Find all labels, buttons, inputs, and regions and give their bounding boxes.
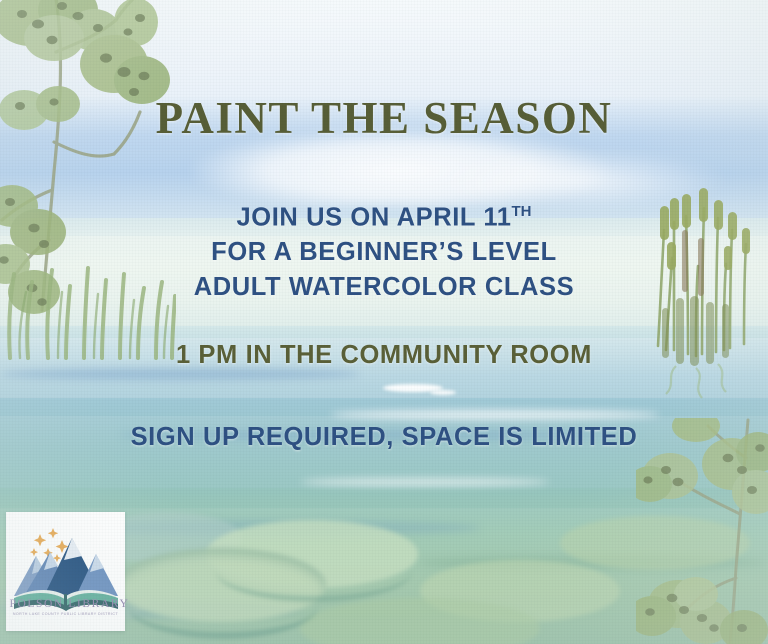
lily-pad [560, 516, 750, 570]
library-logo: POLSON LIBRARY NORTH LAKE COUNTY PUBLIC … [6, 512, 125, 631]
poster-line-signup-note: SIGN UP REQUIRED, SPACE IS LIMITED [0, 423, 768, 452]
lily-pad [300, 598, 540, 644]
water-wash-upper [0, 326, 768, 416]
water-streak [300, 478, 550, 486]
logo-subtitle-text: NORTH LAKE COUNTY PUBLIC LIBRARY DISTRIC… [10, 612, 122, 616]
lily-pad [420, 560, 620, 622]
water-streak [330, 410, 660, 419]
cloud-wash-right [430, 150, 730, 210]
logo-name-text: POLSON LIBRARY [10, 598, 122, 610]
lily-pad [206, 520, 418, 588]
water-wash-mid [0, 398, 768, 508]
poster-line-level: FOR A BEGINNER’S LEVEL [0, 238, 768, 267]
lily-pad [116, 548, 326, 622]
date-text: JOIN US ON APRIL 11 [237, 204, 512, 232]
poster-line-date: JOIN US ON APRIL 11TH [0, 203, 768, 233]
lily-pad-shadow [216, 540, 412, 602]
lily-pad-shadow [128, 572, 318, 639]
water-streak [420, 556, 768, 570]
poster-line-class: ADULT WATERCOLOR CLASS [0, 273, 768, 302]
poster-line-time-location: 1 PM IN THE COMMUNITY ROOM [0, 341, 768, 370]
water-highlight [430, 390, 456, 395]
date-ordinal-suffix: TH [511, 203, 531, 220]
poster-canvas: PAINT THE SEASON JOIN US ON APRIL 11TH F… [0, 0, 768, 644]
poster-headline: PAINT THE SEASON [0, 92, 768, 144]
